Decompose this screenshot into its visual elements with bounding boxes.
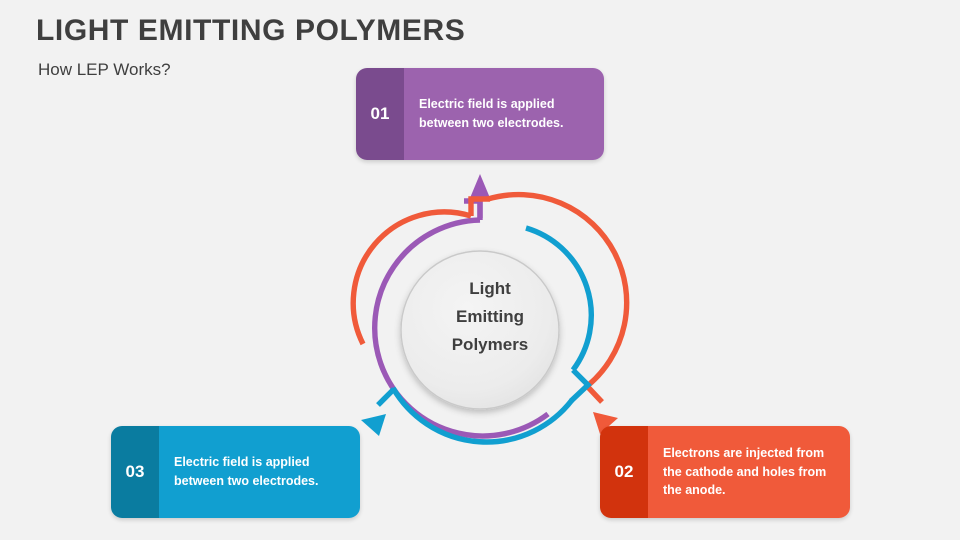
step-card-03[interactable]: 03 Electric field is applied between two…	[111, 426, 360, 518]
step-card-01[interactable]: 01 Electric field is applied between two…	[356, 68, 604, 160]
cycle-diagram	[330, 172, 650, 462]
step-number-03: 03	[111, 426, 159, 518]
hub-circle	[401, 251, 559, 409]
step-number-01: 01	[356, 68, 404, 160]
page-title: LIGHT EMITTING POLYMERS	[36, 14, 465, 48]
slide-canvas: LIGHT EMITTING POLYMERS How LEP Works?	[0, 0, 960, 540]
step-text-03: Electric field is applied between two el…	[159, 426, 360, 518]
step-card-02[interactable]: 02 Electrons are injected from the catho…	[600, 426, 850, 518]
page-subtitle: How LEP Works?	[38, 60, 171, 80]
step-text-02: Electrons are injected from the cathode …	[648, 426, 850, 518]
step-text-01: Electric field is applied between two el…	[404, 68, 604, 160]
step-number-02: 02	[600, 426, 648, 518]
